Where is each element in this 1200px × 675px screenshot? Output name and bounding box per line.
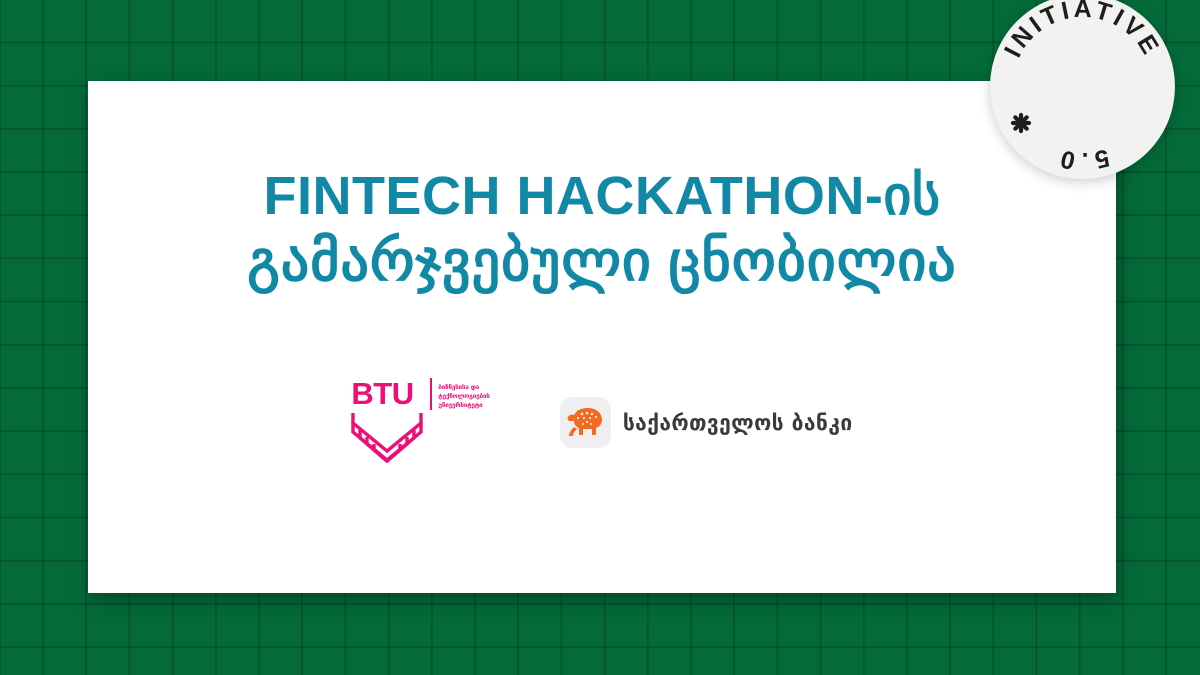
bog-lion-icon bbox=[565, 406, 605, 440]
headline-line-1: FINTECH HACKATHON-ის bbox=[88, 165, 1116, 228]
badge-asterisk-icon bbox=[1013, 115, 1029, 131]
btu-chevron-shield-icon bbox=[351, 411, 423, 463]
initiative-badge: INITIATIVE 5.0 bbox=[990, 0, 1175, 179]
btu-tagline-line-1: ბიზნესისა და bbox=[438, 384, 489, 393]
bank-of-georgia-logo: საქართველოს ბანკი bbox=[560, 397, 853, 448]
announcement-card bbox=[88, 81, 1116, 593]
page-title: FINTECH HACKATHON-ის გამარჯვებული ცნობილ… bbox=[88, 165, 1116, 294]
badge-bottom-text: 5.0 bbox=[1053, 143, 1112, 175]
partner-logo-row: BTU ბიზნესისა და ტექნოლოგიების უნივერსიტ… bbox=[88, 375, 1116, 470]
badge-top-text: INITIATIVE bbox=[999, 0, 1166, 62]
btu-tagline: ბიზნესისა და ტექნოლოგიების უნივერსიტეტი bbox=[430, 378, 489, 410]
bog-wordmark: საქართველოს ბანკი bbox=[623, 411, 853, 435]
headline-line-2: გამარჯვებული ცნობილია bbox=[88, 228, 1116, 294]
badge-text-ring: INITIATIVE 5.0 bbox=[990, 0, 1175, 179]
bog-logo-tile bbox=[560, 397, 611, 448]
btu-wordmark: BTU bbox=[351, 378, 423, 409]
btu-tagline-line-3: უნივერსიტეტი bbox=[438, 402, 489, 411]
btu-tagline-line-2: ტექნოლოგიების bbox=[438, 393, 489, 402]
btu-mark: BTU bbox=[351, 378, 423, 467]
btu-logo: BTU ბიზნესისა და ტექნოლოგიების უნივერსიტ… bbox=[351, 378, 489, 467]
